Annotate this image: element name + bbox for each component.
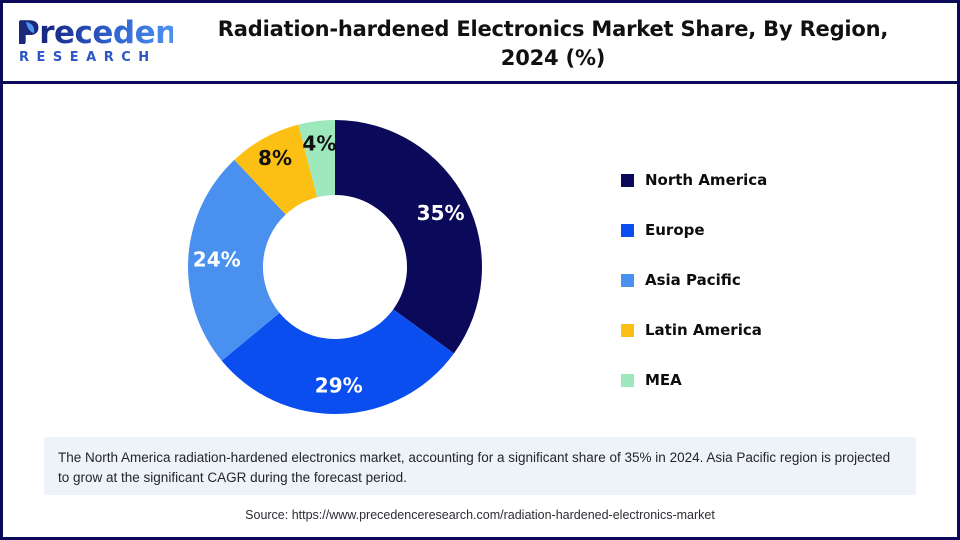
donut-value-label-latin-america: 8%: [258, 146, 292, 170]
plot-area: 35%29%24%8%4% North America Europe Asia …: [3, 84, 957, 434]
legend-label-north-america: North America: [645, 171, 767, 189]
page-title-line-1: Radiation-hardened Electronics Market Sh…: [218, 17, 888, 41]
donut-value-label-mea: 4%: [302, 131, 336, 155]
chart-figure: Precedence RESEARCH Radiation-hardened E…: [0, 0, 960, 540]
donut-chart-svg: 35%29%24%8%4%: [185, 117, 485, 417]
figure-header: Precedence RESEARCH Radiation-hardened E…: [3, 3, 957, 84]
legend-item-mea[interactable]: MEA: [621, 355, 881, 405]
legend-swatch-north-america: [621, 174, 634, 187]
legend-swatch-europe: [621, 224, 634, 237]
legend-swatch-latin-america: [621, 324, 634, 337]
donut-slice-north-america[interactable]: [335, 120, 482, 353]
legend-label-latin-america: Latin America: [645, 321, 762, 339]
page-title: Radiation-hardened Electronics Market Sh…: [203, 15, 903, 73]
legend-label-mea: MEA: [645, 371, 682, 389]
insight-note-box: The North America radiation-hardened ele…: [44, 437, 916, 495]
legend-label-europe: Europe: [645, 221, 705, 239]
legend-item-north-america[interactable]: North America: [621, 155, 881, 205]
donut-value-label-europe: 29%: [315, 373, 363, 397]
legend-item-asia-pacific[interactable]: Asia Pacific: [621, 255, 881, 305]
legend-item-latin-america[interactable]: Latin America: [621, 305, 881, 355]
legend-label-asia-pacific: Asia Pacific: [645, 271, 741, 289]
donut-value-label-north-america: 35%: [417, 201, 465, 225]
logo-subtitle: RESEARCH: [13, 50, 173, 65]
donut-chart: 35%29%24%8%4%: [185, 117, 485, 417]
donut-value-label-asia-pacific: 24%: [193, 248, 241, 272]
page-title-line-2: 2024 (%): [501, 46, 605, 70]
legend-swatch-asia-pacific: [621, 274, 634, 287]
legend-item-europe[interactable]: Europe: [621, 205, 881, 255]
precedence-research-logo: Precedence RESEARCH: [13, 17, 173, 71]
insight-note-text: The North America radiation-hardened ele…: [58, 448, 902, 488]
leaf-p-logomark-icon: [17, 19, 39, 45]
legend-swatch-mea: [621, 374, 634, 387]
chart-legend: North America Europe Asia Pacific Latin …: [621, 155, 881, 405]
source-line: Source: https://www.precedenceresearch.c…: [3, 508, 957, 522]
